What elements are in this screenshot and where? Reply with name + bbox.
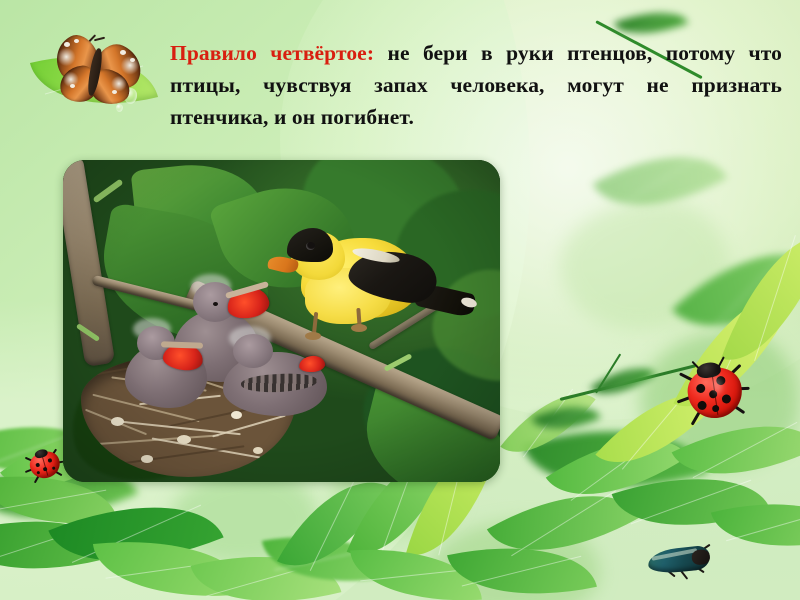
slide-canvas: Правило четвёртое: не бери в руки птенцо… xyxy=(0,0,800,600)
butterfly-wing-spot xyxy=(112,90,117,94)
butterfly-wing-spot xyxy=(74,39,79,43)
green-beetle xyxy=(647,545,711,575)
butterfly-wing-spot xyxy=(120,50,126,55)
headline: Правило четвёртое: не бери в руки птенцо… xyxy=(170,38,782,133)
ladybug xyxy=(685,364,745,421)
photo-inner xyxy=(63,160,500,482)
photo-bird-feeding-chicks[interactable] xyxy=(63,160,500,482)
butterfly-antenna-icon xyxy=(94,37,105,41)
photo-vignette xyxy=(63,160,500,482)
butterfly-wing-spot xyxy=(70,84,75,88)
butterfly-wing-spot xyxy=(64,42,70,47)
butterfly-wing-spot xyxy=(130,58,135,62)
rule-label: Правило четвёртое: xyxy=(170,41,374,65)
painted-lady-butterfly xyxy=(50,28,150,108)
butterfly-leaf-group xyxy=(34,26,160,122)
